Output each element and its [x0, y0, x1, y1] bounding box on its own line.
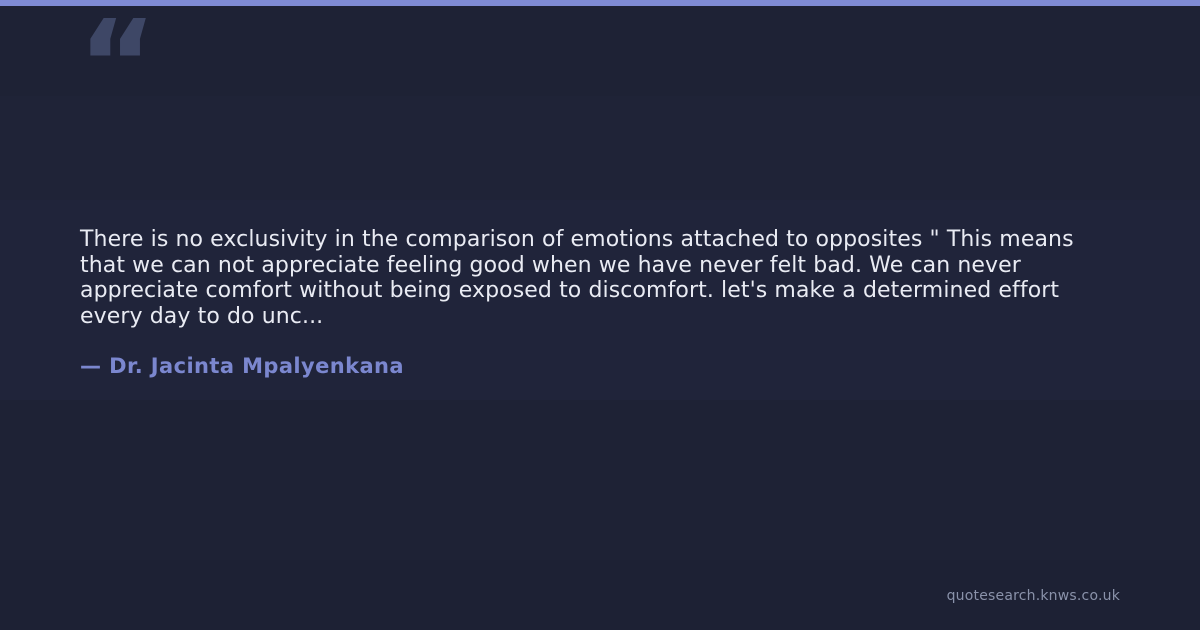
site-watermark: quotesearch.knws.co.uk — [947, 588, 1120, 604]
author-dash: — — [80, 354, 109, 378]
quote-author: — Dr. Jacinta Mpalyenkana — [80, 354, 404, 378]
top-accent-bar — [0, 0, 1200, 6]
open-quote-icon: “ — [78, 6, 155, 126]
author-name: Dr. Jacinta Mpalyenkana — [109, 354, 404, 378]
background-band-upper — [0, 96, 1200, 200]
quote-text: There is no exclusivity in the compariso… — [80, 227, 1110, 329]
quote-card: “ There is no exclusivity in the compari… — [0, 0, 1200, 630]
